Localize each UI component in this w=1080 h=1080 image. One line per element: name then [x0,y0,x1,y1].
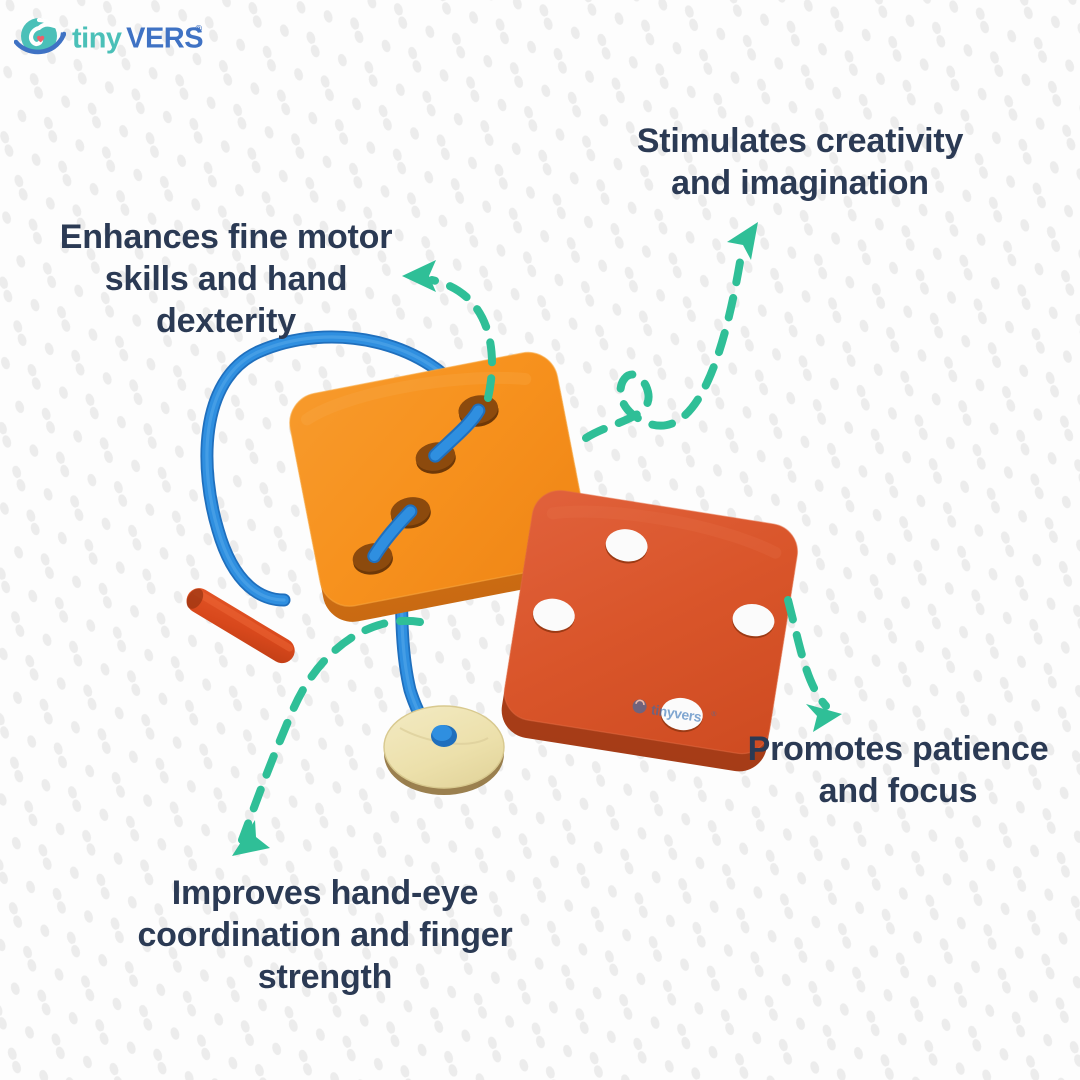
blue-lacing-cord-bottom [402,500,444,742]
callout-text-creativity: Stimulates creativity and imagination [600,120,1000,204]
infographic-canvas: tiny VERS ® [0,0,1080,1080]
callout-text-coordination: Improves hand-eye coordination and finge… [110,872,540,998]
brand-wordmark: tiny VERS ® [72,18,212,58]
svg-text:®: ® [711,710,718,719]
callout-line: coordination and finger [110,914,540,956]
board-holes [326,392,525,578]
orange-lacing-board [285,347,596,627]
board-brand-watermark: tinyvers ® [631,697,718,727]
callout-line: Stimulates creativity [600,120,1000,162]
wooden-stopper-disc [384,706,504,795]
callout-line: skills and hand [36,258,416,300]
tinyvers-globe-heart-icon [14,14,66,62]
callout-line: and imagination [600,162,1000,204]
svg-text:®: ® [195,23,202,33]
arrow-path-creativity [586,250,742,438]
callout-text-motor: Enhances fine motor skills and hand dext… [36,216,416,342]
svg-text:VERS: VERS [126,22,203,54]
blue-lacing-cord-left [207,337,470,600]
callout-text-patience: Promotes patience and focus [718,728,1078,812]
brand-logo[interactable]: tiny VERS ® [14,14,212,62]
arrow-path-coordination [242,621,420,840]
arrow-path-patience [788,600,826,706]
callout-line: strength [110,956,540,998]
arrowhead-creativity [727,222,758,260]
arrowhead-coordination [232,820,270,856]
cord-on-board [351,411,502,557]
svg-text:tiny: tiny [72,22,122,54]
wooden-needle [182,583,299,667]
red-board-holes [518,517,785,744]
callout-line: dexterity [36,300,416,342]
svg-text:tinyvers: tinyvers [650,701,703,725]
callout-line: and focus [718,770,1078,812]
callout-line: Improves hand-eye [110,872,540,914]
arrow-path-motor [432,280,492,398]
callout-line: Enhances fine motor [36,216,416,258]
callout-line: Promotes patience [718,728,1078,770]
